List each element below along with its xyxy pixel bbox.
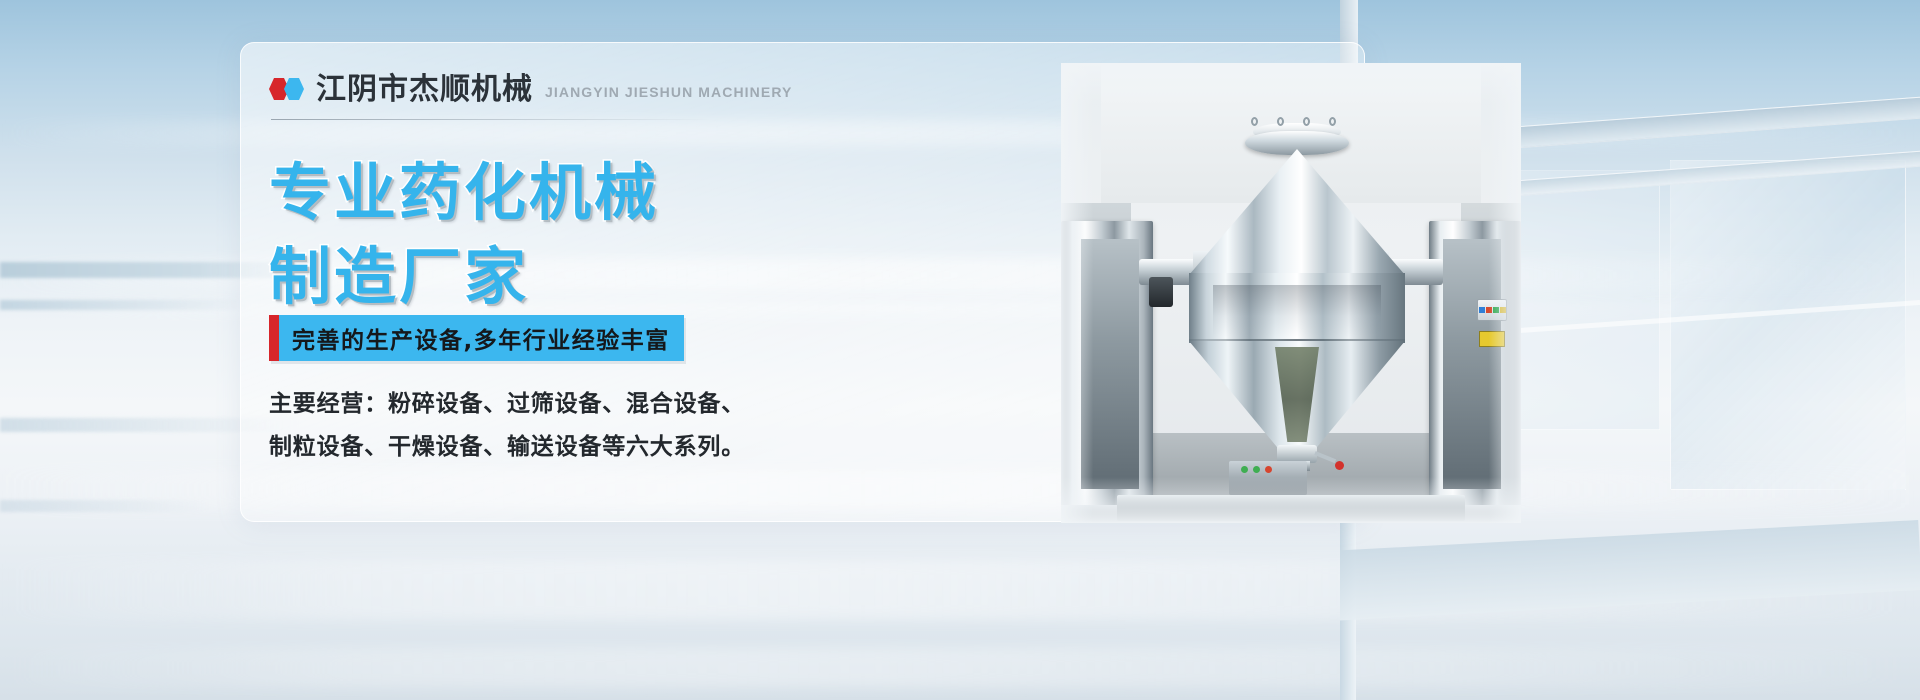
headline-line-1: 专业药化机械 (269, 151, 659, 235)
machine-double-cone-vessel (1189, 115, 1405, 445)
machine-placard (1477, 299, 1507, 321)
brand-logo[interactable]: 江阴市杰顺机械 JIANGYIN JIESHUN MACHINERY (269, 75, 792, 105)
product-photo (1061, 63, 1521, 523)
promo-banner: 江阴市杰顺机械 JIANGYIN JIESHUN MACHINERY 专业药化机… (0, 0, 1920, 700)
machine-motor-box (1149, 277, 1173, 307)
machine-reflection (1213, 285, 1381, 337)
description-line-2: 制粒设备、干燥设备、输送设备等六大系列。 (269, 426, 789, 469)
brand-divider (271, 119, 711, 120)
machine-valve-knob (1335, 461, 1344, 470)
machine-indicator-light (1265, 466, 1272, 473)
architecture-glass-panel (1670, 160, 1906, 490)
machine-base-skid (1117, 495, 1465, 521)
slogan-text: 完善的生产设备,多年行业经验丰富 (279, 315, 684, 361)
brand-name-en: JIANGYIN JIESHUN MACHINERY (545, 84, 792, 100)
page-title: 专业药化机械 制造厂家 (269, 151, 659, 320)
machine-lug-icon (1303, 117, 1310, 126)
machine-indicator-light (1241, 466, 1248, 473)
hexagon-blue-icon (284, 78, 304, 100)
machine-upper-cone (1189, 149, 1405, 275)
description-line-1: 主要经营：粉碎设备、过筛设备、混合设备、 (269, 383, 789, 426)
description-text: 主要经营：粉碎设备、过筛设备、混合设备、 制粒设备、干燥设备、输送设备等六大系列… (269, 383, 789, 468)
background-horizon-slab (0, 300, 250, 310)
headline-line-2: 制造厂家 (269, 235, 659, 319)
machine-lug-icon (1251, 117, 1258, 126)
machine-column-recess-left (1081, 239, 1139, 489)
machine-warning-label (1479, 331, 1505, 347)
brand-name-cn: 江阴市杰顺机械 (316, 75, 533, 105)
slogan-accent-bar (269, 315, 279, 361)
machine-lug-icon (1277, 117, 1284, 126)
content-card: 江阴市杰顺机械 JIANGYIN JIESHUN MACHINERY 专业药化机… (240, 42, 1365, 522)
machine-column-recess-right (1443, 239, 1501, 489)
logo-mark (269, 78, 304, 100)
machine-indicator-light (1253, 466, 1260, 473)
slogan-bar: 完善的生产设备,多年行业经验丰富 (269, 315, 684, 361)
background-horizon-slab (0, 500, 210, 512)
machine-lug-icon (1329, 117, 1336, 126)
architecture-floor (1340, 520, 1920, 621)
